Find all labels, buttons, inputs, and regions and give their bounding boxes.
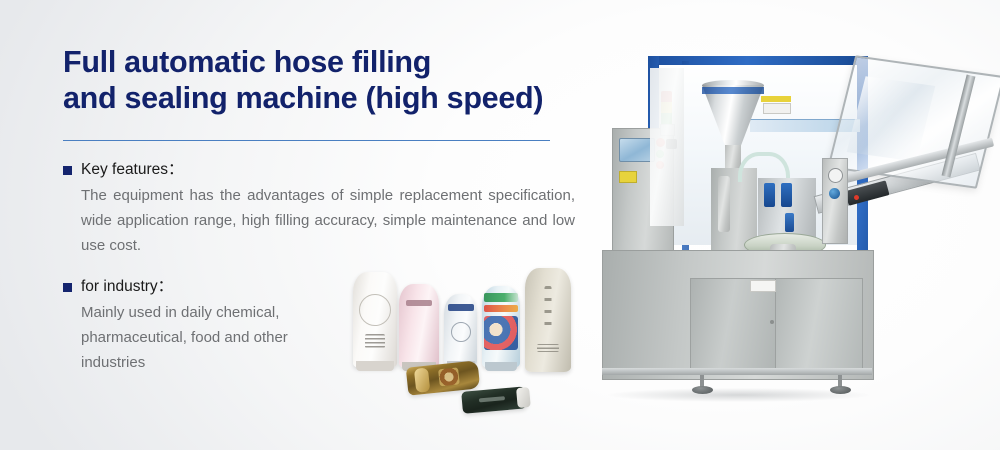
- sensor-block: [764, 183, 775, 207]
- sensor-block: [785, 213, 794, 232]
- tube-white: [353, 272, 397, 368]
- tube-brand-label: [406, 300, 432, 306]
- feature-heading-label: Key features：: [81, 160, 184, 180]
- product-banner: Full automatic hose filling and sealing …: [0, 0, 1000, 450]
- tube-text-block: [365, 334, 385, 348]
- bullet-square-icon: [63, 166, 72, 175]
- tube-emblem: [438, 367, 460, 386]
- tube-label: [359, 294, 391, 326]
- text-column: Full automatic hose filling and sealing …: [63, 44, 583, 116]
- side-guard-panel: [650, 68, 684, 226]
- tube-cap: [414, 368, 430, 393]
- tube-beige: [525, 268, 571, 372]
- title-divider: [63, 140, 550, 141]
- industry-section: for industry： Mainly used in daily chemi…: [63, 277, 353, 375]
- machine-photo: [598, 28, 1000, 400]
- tube-sunplay: [482, 286, 520, 368]
- tube-dot-marks: [545, 286, 552, 334]
- bullet-square-icon: [63, 283, 72, 292]
- sensor-block: [781, 183, 792, 207]
- feature-body-text: The equipment has the advantages of simp…: [63, 183, 575, 258]
- regulator-knob: [829, 188, 840, 199]
- industry-body-text: Mainly used in daily chemical, pharmaceu…: [63, 300, 353, 375]
- tube-light-blue: [444, 294, 477, 366]
- cabinet-door-right: [775, 278, 863, 370]
- ce-label-icon: [619, 171, 637, 183]
- tube-brand-label: [484, 293, 518, 302]
- no-entry-decal: [750, 280, 776, 292]
- pressure-gauge-icon: [828, 168, 843, 183]
- tube-cap: [485, 362, 517, 371]
- feature-heading-row: Key features：: [63, 160, 575, 180]
- tube-body: [399, 284, 439, 368]
- warning-decal: [761, 96, 791, 102]
- page-title: Full automatic hose filling and sealing …: [63, 44, 583, 116]
- industry-heading-label: for industry：: [81, 277, 173, 297]
- tube-art: [451, 322, 471, 342]
- tube-character-art: [484, 316, 518, 350]
- hopper-blue-collar: [702, 87, 764, 94]
- warning-decal: [763, 103, 791, 114]
- tube-text-block: [537, 344, 559, 352]
- dosing-cylinder: [718, 176, 730, 232]
- cabinet-door-lock-icon: [770, 320, 774, 324]
- industry-heading-row: for industry：: [63, 277, 353, 297]
- cabinet-bottom-rail: [602, 368, 872, 375]
- tube-brand-label: [448, 304, 474, 311]
- tube-dark-green: [461, 386, 529, 414]
- tube-pink: [399, 284, 439, 368]
- tube-cap: [356, 361, 394, 371]
- machine-shadow: [608, 388, 870, 402]
- product-tubes-photo: [347, 256, 589, 424]
- tube-cap: [516, 387, 531, 408]
- feature-section: Key features： The equipment has the adva…: [63, 160, 575, 258]
- tube-promo-stripe: [484, 305, 518, 312]
